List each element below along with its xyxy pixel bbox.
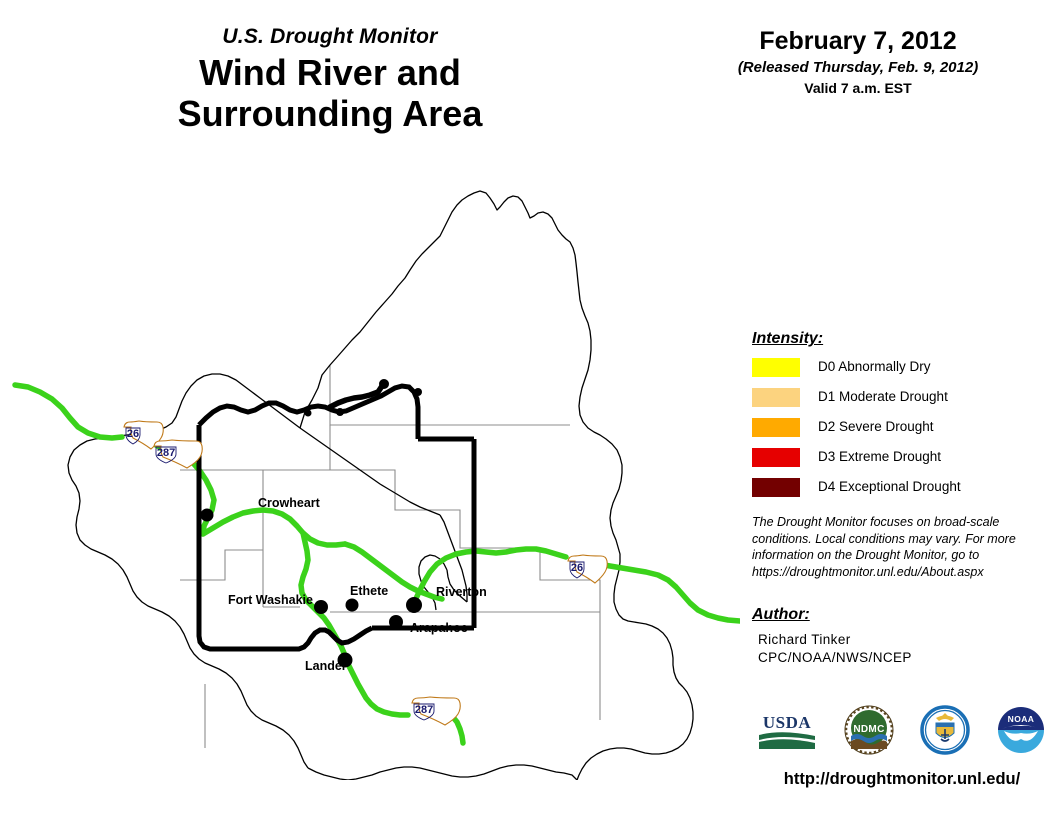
shield-route-number: 26 (127, 428, 139, 440)
legend-swatch-d2 (752, 418, 800, 437)
svg-text:USDA: USDA (763, 713, 812, 732)
release-note: (Released Thursday, Feb. 9, 2012) (660, 59, 1056, 76)
legend-row-d3: D3 Extreme Drought (752, 447, 1052, 468)
drought-map[interactable]: CrowheartFort WashakieEtheteRivertonArap… (0, 160, 740, 780)
author-affiliation: CPC/NOAA/NWS/NCEP (758, 649, 1052, 667)
county-boundary-lines (180, 365, 600, 748)
svg-text:NOAA: NOAA (1008, 714, 1035, 724)
legend-items: D0 Abnormally DryD1 Moderate DroughtD2 S… (752, 357, 1052, 498)
city-label-crowheart: Crowheart (258, 496, 321, 510)
agency-logos: USDA NDMC NOAA (756, 702, 1046, 758)
highway-lines (15, 385, 740, 743)
noaa-logo[interactable]: NOAA (996, 705, 1046, 755)
map-header-right: February 7, 2012 (Released Thursday, Feb… (660, 28, 1056, 96)
city-dot-arapahoe[interactable] (389, 615, 403, 629)
legend-row-d4: D4 Exceptional Drought (752, 477, 1052, 498)
legend-label-d4: D4 Exceptional Drought (818, 480, 961, 495)
city-label-ethete: Ethete (350, 584, 388, 598)
legend-swatch-d3 (752, 448, 800, 467)
usda-logo[interactable]: USDA (756, 709, 818, 751)
boundary-node-marker (305, 410, 312, 417)
boundary-node-marker (379, 379, 389, 389)
legend-label-d0: D0 Abnormally Dry (818, 360, 931, 375)
city-dot-riverton[interactable] (406, 597, 422, 613)
city-label-fort-washakie: Fort Washakie (228, 593, 313, 607)
highway-shield-us-26-east[interactable]: 26 (568, 555, 607, 583)
legend-row-d2: D2 Severe Drought (752, 417, 1052, 438)
commerce-seal-logo[interactable] (920, 705, 970, 755)
release-date: February 7, 2012 (660, 28, 1056, 56)
map-header-left: U.S. Drought Monitor Wind River and Surr… (0, 26, 660, 134)
legend-label-d2: D2 Severe Drought (818, 420, 934, 435)
disclaimer-text: The Drought Monitor focuses on broad-sca… (752, 514, 1024, 580)
legend-label-d3: D3 Extreme Drought (818, 450, 941, 465)
legend-panel: Intensity: D0 Abnormally DryD1 Moderate … (752, 330, 1052, 666)
valid-time: Valid 7 a.m. EST (660, 80, 1056, 96)
svg-text:NDMC: NDMC (853, 724, 884, 735)
ndmc-logo[interactable]: NDMC (844, 705, 894, 755)
city-label-arapahoe: Arapahoe (410, 621, 468, 635)
legend-swatch-d0 (752, 358, 800, 377)
boundary-node-marker (414, 388, 422, 396)
city-dot-ethete[interactable] (346, 599, 359, 612)
shield-route-number: 287 (157, 447, 175, 459)
shield-route-number: 287 (415, 704, 433, 716)
city-dot-fort-washakie[interactable] (314, 600, 328, 614)
city-label-riverton: Riverton (436, 585, 487, 599)
author-name: Richard Tinker (758, 631, 1052, 649)
shield-route-number: 26 (571, 562, 583, 574)
legend-row-d1: D1 Moderate Drought (752, 387, 1052, 408)
page-title: Wind River and Surrounding Area (0, 52, 660, 134)
author-heading: Author: (752, 606, 1052, 624)
intensity-heading: Intensity: (752, 330, 1052, 348)
legend-label-d1: D1 Moderate Drought (818, 390, 948, 405)
city-label-lander: Lander (305, 659, 347, 673)
city-dot-crowheart[interactable] (201, 509, 214, 522)
legend-row-d0: D0 Abnormally Dry (752, 357, 1052, 378)
region-outline (68, 191, 693, 780)
program-subtitle: U.S. Drought Monitor (0, 26, 660, 48)
footer-url[interactable]: http://droughtmonitor.unl.edu/ (752, 770, 1052, 790)
legend-swatch-d4 (752, 478, 800, 497)
legend-swatch-d1 (752, 388, 800, 407)
boundary-node-marker (336, 408, 344, 416)
author-block: Author: Richard Tinker CPC/NOAA/NWS/NCEP (752, 606, 1052, 666)
